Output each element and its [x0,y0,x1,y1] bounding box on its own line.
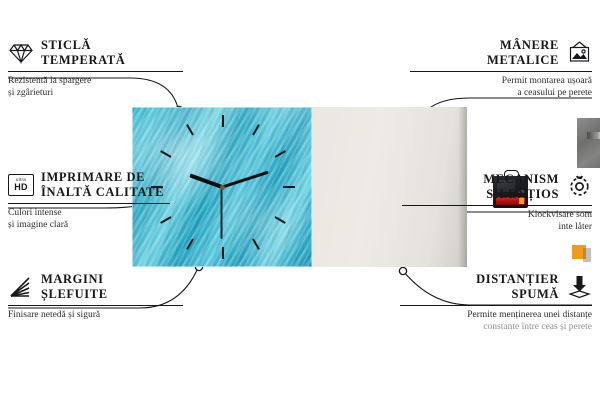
feature-polished-edges: MARGINI ȘLEFUITE Finisare netedă și sigu… [8,272,208,321]
divider [400,305,592,306]
metal-hanger-plate [577,118,600,168]
feature-description: Culori intense și imagine clară [8,207,208,231]
feature-title: MÂNERE METALICE [487,38,559,68]
ultra-hd-icon: ultra HD [8,172,34,198]
feature-description: Finisare netedă și sigură [8,309,208,321]
feature-title: STICLĂ TEMPERATĂ [41,38,125,68]
feature-title: DISTANȚIER SPUMĂ [476,272,559,302]
feature-metal-handles: MÂNERE METALICE Permit montarea ușoară a… [400,38,592,99]
foam-spacer [572,245,586,259]
feature-tempered-glass: STICLĂ TEMPERATĂ Rezistentă la spargere … [8,38,198,99]
feature-silent-mechanism: MECANISM SILENȚIOS Klockvisare som inte … [395,172,592,233]
picture-hanger-icon [566,40,592,66]
feature-description: Rezistentă la spargere și zgârieturi [8,75,198,99]
feature-description: Permit montarea ușoară a ceasului pe per… [400,75,592,99]
diamond-icon [8,40,34,66]
gear-icon [566,174,592,200]
infographic-canvas: STICLĂ TEMPERATĂ Rezistentă la spargere … [0,0,600,400]
hanger-slot [587,132,600,139]
divider [402,205,592,206]
feature-title: IMPRIMARE DE ÎNALTĂ CALITATE [41,170,164,200]
press-down-icon [566,274,592,300]
feature-description: Klockvisare som inte låter [395,209,592,233]
divider [8,305,183,306]
feature-title: MECANISM SILENȚIOS [483,172,559,202]
divider [410,71,592,72]
divider [8,71,183,72]
ultra-hd-icon-main-label: HD [14,183,27,192]
polished-edge-icon [8,274,34,300]
feature-high-quality-print: ultra HD IMPRIMARE DE ÎNALTĂ CALITATE Cu… [8,170,208,231]
divider [8,203,170,204]
feature-description: Permite menținerea unei distanțe constan… [392,309,592,333]
feature-title: MARGINI ȘLEFUITE [41,272,108,302]
feature-foam-spacer: DISTANȚIER SPUMĂ Permite menținerea unei… [392,272,592,333]
